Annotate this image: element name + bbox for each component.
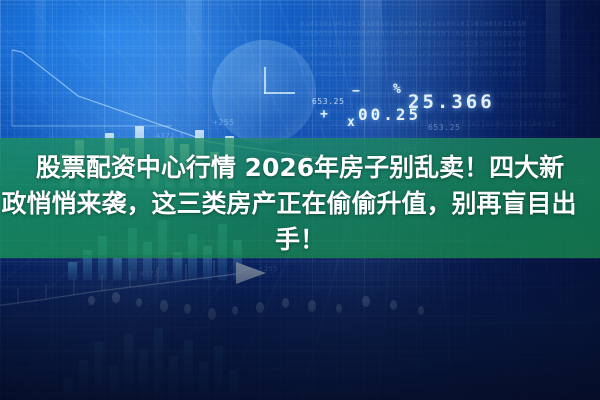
banner-image: 0101101001011010010110100101101001011010… [0,0,600,400]
green-caption-band [0,138,600,258]
